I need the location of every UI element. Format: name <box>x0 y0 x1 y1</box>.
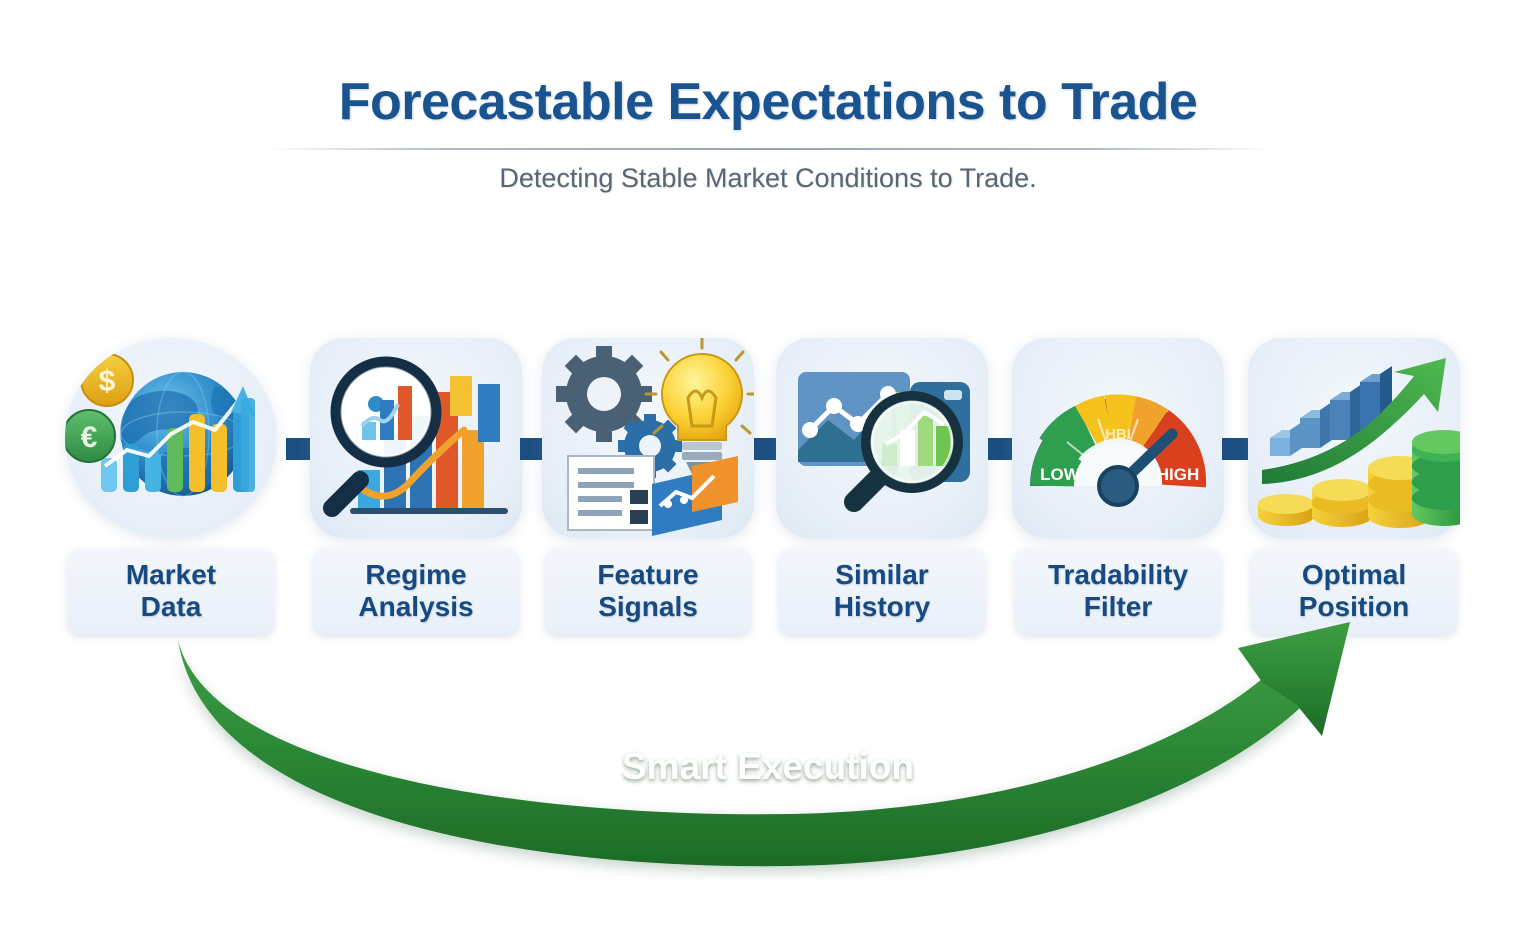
svg-text:$: $ <box>99 365 116 398</box>
gauge-high-label: HIGH <box>1157 465 1200 484</box>
gears-lightbulb-document-icon <box>542 338 754 538</box>
dashboard-magnifier-icon <box>776 338 988 538</box>
pipeline-step-tradability-filter[interactable]: LOW HBI HIGH Tradability Filter <box>1012 330 1224 640</box>
curved-arrow-icon <box>0 600 1536 880</box>
page-subtitle: Detecting Stable Market Conditions to Tr… <box>0 163 1536 194</box>
coins-growth-arrow-icon <box>1248 338 1460 538</box>
pipeline-step-similar-history[interactable]: Similar History <box>776 330 988 640</box>
smart-execution-arrow: Smart Execution <box>0 600 1536 880</box>
title-divider <box>265 148 1275 150</box>
label-line-1: Similar <box>835 559 928 591</box>
label-line-1: Regime <box>365 559 466 591</box>
label-line-1: Market <box>126 559 216 591</box>
pipeline-step-optimal-position[interactable]: Optimal Position <box>1248 330 1460 640</box>
pipeline-step-feature-signals[interactable]: Feature Signals <box>542 330 754 640</box>
label-line-1: Feature <box>597 559 698 591</box>
label-line-1: Tradability <box>1048 559 1188 591</box>
gauge-low-label: LOW <box>1040 465 1081 484</box>
gauge-meter-icon: LOW HBI HIGH <box>1012 338 1224 538</box>
pipeline-step-regime-analysis[interactable]: Regime Analysis <box>310 330 522 640</box>
pipeline-step-market-data[interactable]: $ € Market Data <box>65 330 277 640</box>
header: Forecastable Expectations to Trade Detec… <box>0 0 1536 230</box>
label-line-1: Optimal <box>1302 559 1406 591</box>
globe-currency-chart-icon: $ € <box>65 338 277 538</box>
magnifier-bar-chart-icon <box>310 338 522 538</box>
gauge-mid-label: HBI <box>1105 426 1131 443</box>
page-title: Forecastable Expectations to Trade <box>0 72 1536 132</box>
svg-text:€: € <box>81 421 98 454</box>
